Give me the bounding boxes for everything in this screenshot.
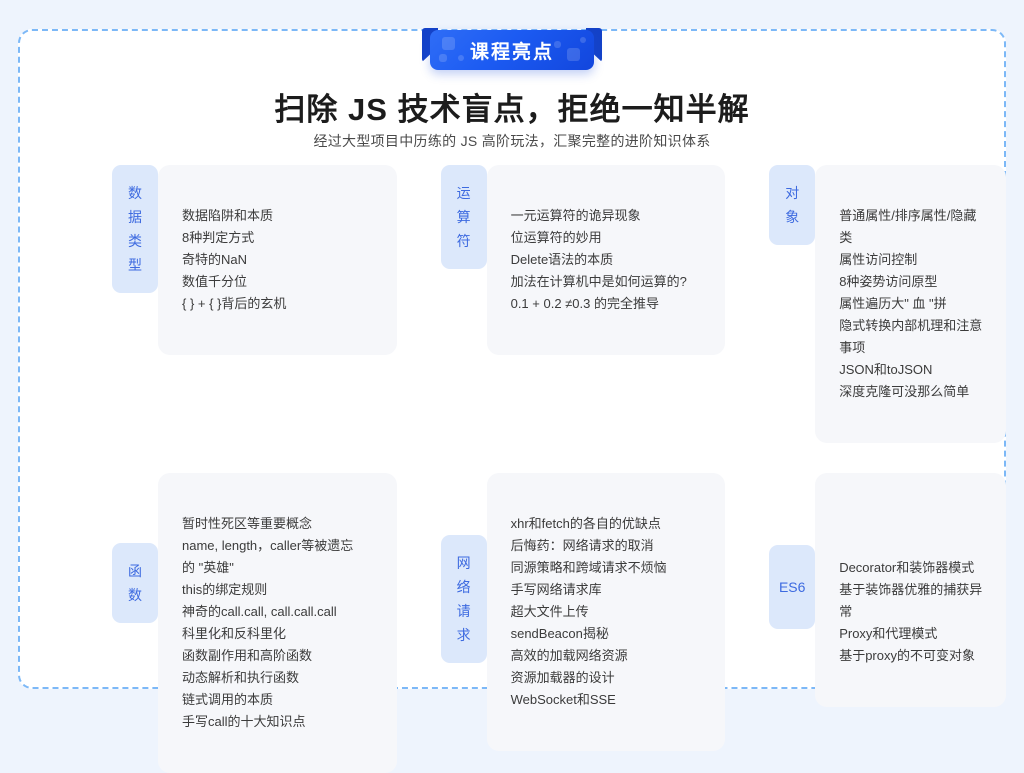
topic-tag-char: 运 — [441, 181, 487, 205]
section-ribbon-banner: 课程亮点 — [422, 14, 602, 62]
topic-item: 暂时性死区等重要概念 — [182, 513, 377, 535]
topic-card-es6: Decorator和装饰器模式 基于装饰器优雅的捕获异常 Proxy和代理模式 … — [815, 473, 1006, 707]
topic-item: 隐式转换内部机理和注意事项 — [839, 315, 986, 359]
topic-item: { } + { }背后的玄机 — [182, 293, 377, 315]
topic-tag-char: 求 — [441, 623, 487, 647]
topic-tag-char: 象 — [769, 205, 815, 229]
topic-tag-char: 数 — [112, 181, 158, 205]
ribbon-label: 课程亮点 — [470, 37, 554, 64]
topic-item: 0.1 + 0.2 ≠0.3 的完全推导 — [511, 293, 706, 315]
topic-card-function: 暂时性死区等重要概念 name, length，caller等被遗忘 的 "英雄… — [158, 473, 397, 773]
topic-row-2: 函 数 暂时性死区等重要概念 name, length，caller等被遗忘 的… — [18, 473, 1006, 773]
topic-item: 同源策略和跨域请求不烦恼 — [511, 557, 706, 579]
topic-item: 奇特的NaN — [182, 249, 377, 271]
topic-card-network-request: xhr和fetch的各自的优缺点 后悔药：网络请求的取消 同源策略和跨域请求不烦… — [487, 473, 726, 751]
page-title: 扫除 JS 技术盲点，拒绝一知半解 — [0, 84, 1024, 129]
topic-item: 手写网络请求库 — [511, 579, 706, 601]
ribbon-decor-square — [439, 54, 447, 62]
topic-item: Decorator和装饰器模式 — [839, 557, 986, 579]
topic-block-es6: ES6 Decorator和装饰器模式 基于装饰器优雅的捕获异常 Proxy和代… — [769, 473, 1006, 773]
topic-tag-char: 型 — [112, 253, 158, 277]
topic-item-list: 一元运算符的诡异现象 位运算符的妙用 Delete语法的本质 加法在计算机中是如… — [511, 205, 706, 315]
topic-item: 加法在计算机中是如何运算的? — [511, 271, 706, 293]
topic-tag-char: 对 — [769, 181, 815, 205]
topic-grid: 数 据 类 型 数据陷阱和本质 8种判定方式 奇特的NaN 数值千分位 { } … — [18, 165, 1006, 773]
topic-tag-char: 函 — [112, 559, 158, 583]
topic-item: this的绑定规则 — [182, 579, 377, 601]
topic-item-list: 暂时性死区等重要概念 name, length，caller等被遗忘 的 "英雄… — [182, 513, 377, 733]
topic-tag-char: ES6 — [769, 575, 815, 599]
topic-item: Proxy和代理模式 — [839, 623, 986, 645]
topic-item: xhr和fetch的各自的优缺点 — [511, 513, 706, 535]
topic-item: Delete语法的本质 — [511, 249, 706, 271]
ribbon-decor-square — [554, 41, 561, 48]
topic-block-network-request: 网 络 请 求 xhr和fetch的各自的优缺点 后悔药：网络请求的取消 同源策… — [441, 473, 726, 773]
topic-item: 8种姿势访问原型 — [839, 271, 986, 293]
topic-row-1: 数 据 类 型 数据陷阱和本质 8种判定方式 奇特的NaN 数值千分位 { } … — [18, 165, 1006, 443]
topic-item: 位运算符的妙用 — [511, 227, 706, 249]
ribbon-decor-square — [442, 37, 455, 50]
topic-item: 动态解析和执行函数 — [182, 667, 377, 689]
topic-tag-char: 网 — [441, 551, 487, 575]
topic-item: 后悔药：网络请求的取消 — [511, 535, 706, 557]
topic-tag-char: 络 — [441, 575, 487, 599]
topic-tag-operator: 运 算 符 — [441, 165, 487, 269]
topic-tag-char: 请 — [441, 599, 487, 623]
ribbon-body: 课程亮点 — [430, 30, 594, 70]
topic-tag-es6: ES6 — [769, 545, 815, 629]
topic-item: 链式调用的本质 — [182, 689, 377, 711]
topic-tag-network-request: 网 络 请 求 — [441, 535, 487, 663]
topic-tag-data-type: 数 据 类 型 — [112, 165, 158, 293]
topic-item-list: xhr和fetch的各自的优缺点 后悔药：网络请求的取消 同源策略和跨域请求不烦… — [511, 513, 706, 711]
topic-tag-char: 符 — [441, 229, 487, 253]
topic-block-data-type: 数 据 类 型 数据陷阱和本质 8种判定方式 奇特的NaN 数值千分位 { } … — [112, 165, 397, 443]
topic-item-list: 数据陷阱和本质 8种判定方式 奇特的NaN 数值千分位 { } + { }背后的… — [182, 205, 377, 315]
topic-item: 基于装饰器优雅的捕获异常 — [839, 579, 986, 623]
topic-item: 属性访问控制 — [839, 249, 986, 271]
topic-item: 数值千分位 — [182, 271, 377, 293]
page-subtitle: 经过大型项目中历练的 JS 高阶玩法，汇聚完整的进阶知识体系 — [0, 131, 1024, 151]
ribbon-decor-square — [458, 55, 464, 61]
topic-item-list: Decorator和装饰器模式 基于装饰器优雅的捕获异常 Proxy和代理模式 … — [839, 557, 986, 667]
topic-item: 手写call的十大知识点 — [182, 711, 377, 733]
topic-item: 属性遍历大" 血 "拼 — [839, 293, 986, 315]
topic-item: 神奇的call.call, call.call.call — [182, 601, 377, 623]
topic-card-object: 普通属性/排序属性/隐藏类 属性访问控制 8种姿势访问原型 属性遍历大" 血 "… — [815, 165, 1006, 443]
topic-item: 普通属性/排序属性/隐藏类 — [839, 205, 986, 249]
topic-item: 超大文件上传 — [511, 601, 706, 623]
topic-item: 函数副作用和高阶函数 — [182, 645, 377, 667]
topic-item: 高效的加载网络资源 — [511, 645, 706, 667]
topic-tag-function: 函 数 — [112, 543, 158, 623]
topic-tag-object: 对 象 — [769, 165, 815, 245]
topic-tag-char: 算 — [441, 205, 487, 229]
topic-item: 资源加载器的设计 — [511, 667, 706, 689]
topic-item: 数据陷阱和本质 — [182, 205, 377, 227]
topic-item: 基于proxy的不可变对象 — [839, 645, 986, 667]
topic-item-list: 普通属性/排序属性/隐藏类 属性访问控制 8种姿势访问原型 属性遍历大" 血 "… — [839, 205, 986, 403]
topic-item: WebSocket和SSE — [511, 689, 706, 711]
ribbon-decor-square — [567, 48, 580, 61]
topic-card-data-type: 数据陷阱和本质 8种判定方式 奇特的NaN 数值千分位 { } + { }背后的… — [158, 165, 397, 355]
topic-block-object: 对 象 普通属性/排序属性/隐藏类 属性访问控制 8种姿势访问原型 属性遍历大"… — [769, 165, 1006, 443]
topic-tag-char: 类 — [112, 229, 158, 253]
topic-block-operator: 运 算 符 一元运算符的诡异现象 位运算符的妙用 Delete语法的本质 加法在… — [441, 165, 726, 443]
topic-item: 深度克隆可没那么简单 — [839, 381, 986, 403]
topic-tag-char: 据 — [112, 205, 158, 229]
ribbon-decor-square — [580, 37, 586, 43]
topic-item: 8种判定方式 — [182, 227, 377, 249]
topic-item: JSON和toJSON — [839, 359, 986, 381]
topic-tag-char: 数 — [112, 583, 158, 607]
topic-block-function: 函 数 暂时性死区等重要概念 name, length，caller等被遗忘 的… — [112, 473, 397, 773]
topic-item: 科里化和反科里化 — [182, 623, 377, 645]
topic-item: sendBeacon揭秘 — [511, 623, 706, 645]
topic-item: name, length，caller等被遗忘 的 "英雄" — [182, 535, 377, 579]
topic-item: 一元运算符的诡异现象 — [511, 205, 706, 227]
topic-card-operator: 一元运算符的诡异现象 位运算符的妙用 Delete语法的本质 加法在计算机中是如… — [487, 165, 726, 355]
